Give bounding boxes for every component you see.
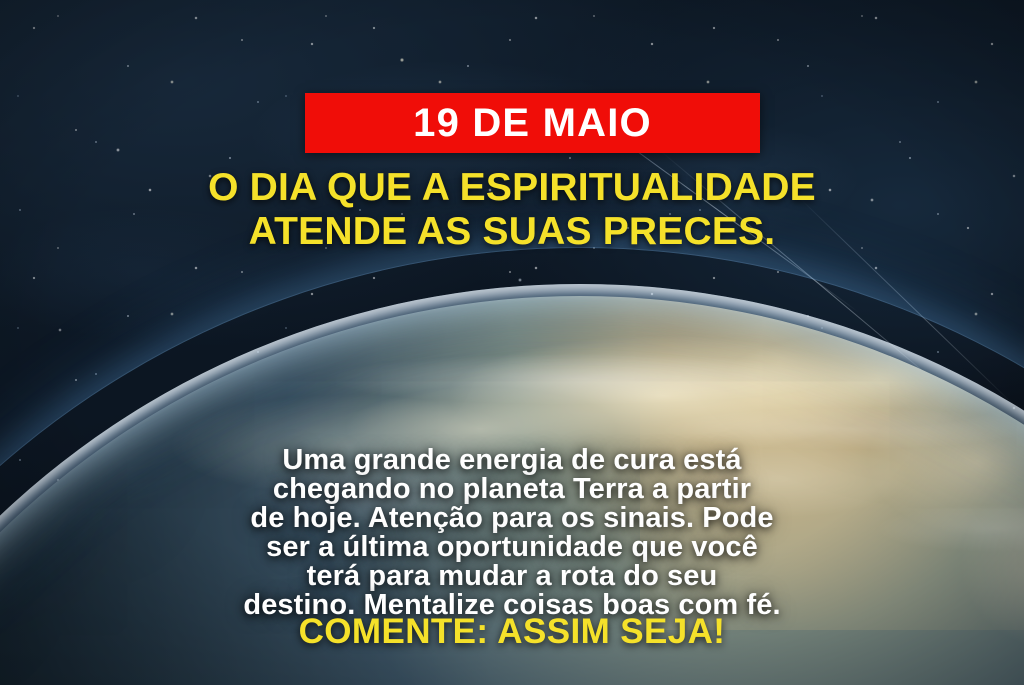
headline-line-2: ATENDE AS SUAS PRECES. bbox=[40, 210, 984, 254]
headline-line-1: O DIA QUE A ESPIRITUALIDADE bbox=[40, 166, 984, 210]
poster-canvas: 19 DE MAIO O DIA QUE A ESPIRITUALIDADE A… bbox=[0, 0, 1024, 685]
poster-content: 19 DE MAIO O DIA QUE A ESPIRITUALIDADE A… bbox=[0, 0, 1024, 685]
body-copy: Uma grande energia de cura está chegando… bbox=[0, 446, 1024, 620]
call-to-action: COMENTE: ASSIM SEJA! bbox=[0, 614, 1024, 649]
body-line-2: chegando no planeta Terra a partir bbox=[56, 475, 968, 504]
body-line-1: Uma grande energia de cura está bbox=[56, 446, 968, 475]
date-banner-label: 19 DE MAIO bbox=[413, 103, 652, 143]
date-banner: 19 DE MAIO bbox=[305, 93, 760, 153]
body-line-5: terá para mudar a rota do seu bbox=[56, 562, 968, 591]
headline: O DIA QUE A ESPIRITUALIDADE ATENDE AS SU… bbox=[0, 166, 1024, 254]
call-to-action-label: COMENTE: ASSIM SEJA! bbox=[299, 612, 726, 651]
body-line-3: de hoje. Atenção para os sinais. Pode bbox=[56, 504, 968, 533]
body-line-4: ser a última oportunidade que você bbox=[56, 533, 968, 562]
